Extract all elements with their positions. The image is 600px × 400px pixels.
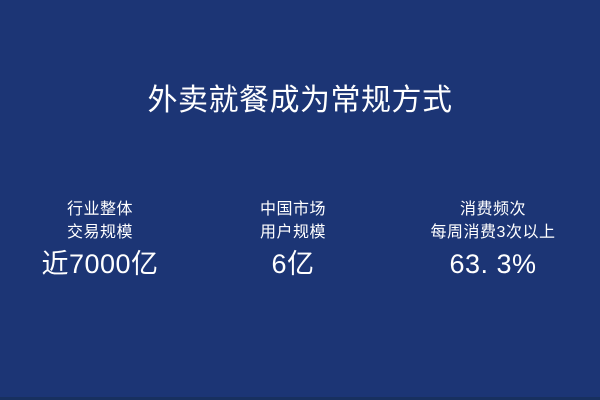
stats-row: 行业整体 交易规模 近7000亿 中国市场 用户规模 6亿 消费频次 每周消费3… — [0, 198, 600, 293]
page-title: 外卖就餐成为常规方式 — [0, 84, 600, 118]
stat-column-consumption-frequency: 消费频次 每周消费3次以上 63. 3% — [386, 198, 600, 280]
stat-column-china-users: 中国市场 用户规模 6亿 — [200, 198, 386, 280]
stat-value: 63. 3% — [449, 249, 536, 280]
stat-label-line1: 行业整体 — [67, 198, 133, 221]
stat-label-line1: 中国市场 — [260, 198, 326, 221]
stat-label-line2: 交易规模 — [67, 221, 133, 244]
slide-canvas: 外卖就餐成为常规方式 行业整体 交易规模 近7000亿 中国市场 用户规模 6亿… — [0, 0, 600, 400]
stat-label-line2: 每周消费3次以上 — [431, 221, 556, 244]
stat-value: 6亿 — [271, 249, 314, 280]
stat-label-line2: 用户规模 — [260, 221, 326, 244]
stat-label-line1: 消费频次 — [460, 198, 526, 221]
stat-value: 近7000亿 — [41, 249, 158, 280]
stat-column-industry-scale: 行业整体 交易规模 近7000亿 — [0, 198, 200, 280]
